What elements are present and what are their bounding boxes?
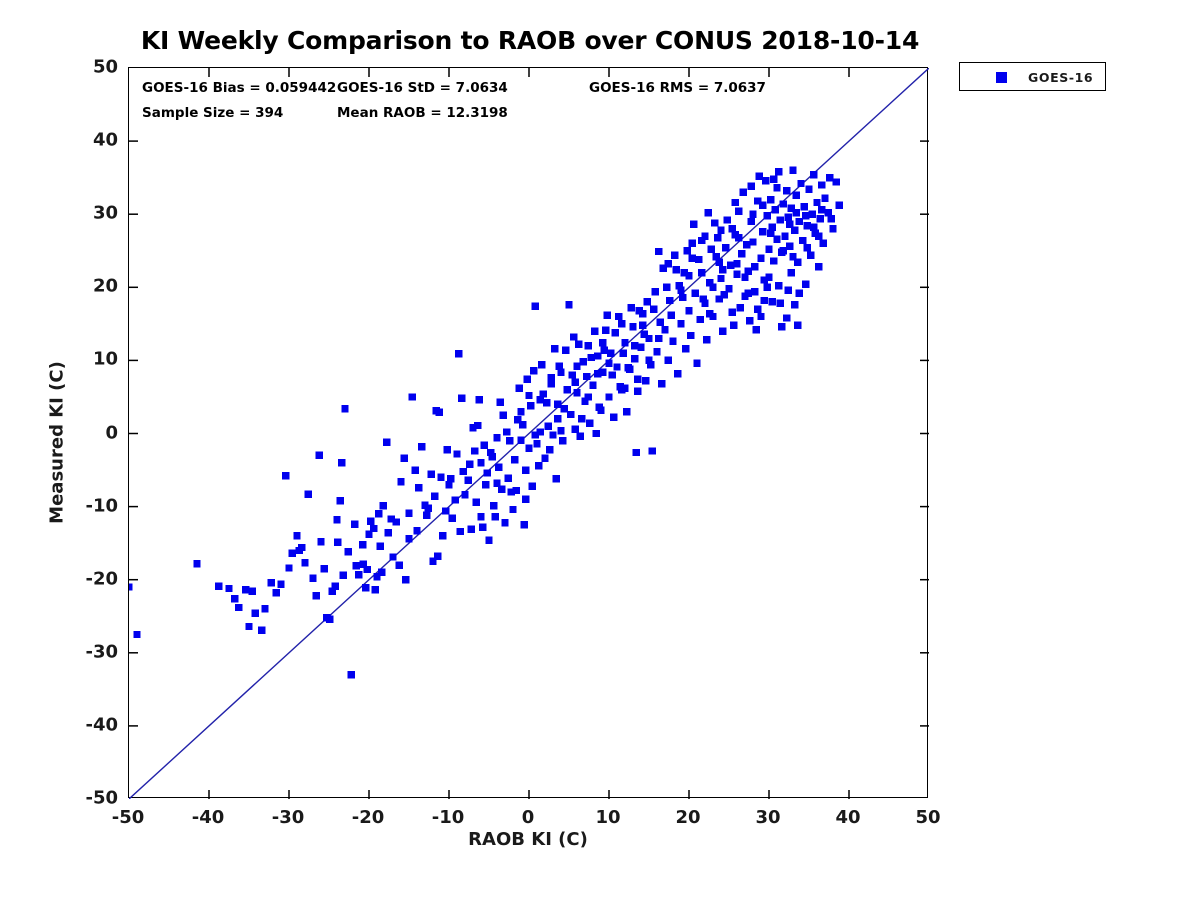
scatter-point [469,424,476,431]
scatter-point [538,361,545,368]
scatter-point [580,358,587,365]
scatter-point [773,235,780,242]
scatter-point [631,355,638,362]
scatter-point [333,516,340,523]
scatter-point [665,260,672,267]
scatter-point [529,482,536,489]
scatter-point [732,199,739,206]
scatter-point [402,576,409,583]
scatter-point [791,301,798,308]
scatter-point [578,415,585,422]
scatter-point [428,471,435,478]
scatter-point [338,459,345,466]
scatter-point [298,544,305,551]
scatter-point [682,345,689,352]
scatter-point [465,477,472,484]
scatter-point [695,256,702,263]
stat-bias: GOES-16 Bias = 0.059442 [142,80,336,96]
scatter-point [258,626,265,633]
scatter-point [378,569,385,576]
scatter-series-goes-16 [129,167,843,679]
scatter-point [772,206,779,213]
stat-rms: GOES-16 RMS = 7.0637 [589,80,766,96]
scatter-point [759,228,766,235]
scatter-point [769,298,776,305]
scatter-point [767,230,774,237]
scatter-point [729,225,736,232]
scatter-point [577,433,584,440]
scatter-point [781,232,788,239]
scatter-point [793,191,800,198]
scatter-point [698,269,705,276]
scatter-point [797,180,804,187]
scatter-point [669,338,676,345]
scatter-point [554,401,561,408]
scatter-point [757,254,764,261]
scatter-point [668,311,675,318]
scatter-point [460,468,467,475]
scatter-point [572,379,579,386]
legend: GOES-16 [959,62,1106,91]
scatter-point [802,281,809,288]
scatter-point [575,341,582,348]
scatter-point [765,246,772,253]
scatter-point [657,319,664,326]
scatter-point [749,211,756,218]
scatter-point [511,456,518,463]
scatter-point [804,244,811,251]
scatter-point [593,430,600,437]
scatter-point [642,377,649,384]
x-tick--10: -10 [432,807,465,828]
scatter-point [677,287,684,294]
scatter-point [599,339,606,346]
scatter-point [431,493,438,500]
scatter-point [549,431,556,438]
scatter-point [765,273,772,280]
scatter-point [756,172,763,179]
scatter-point [780,200,787,207]
stat-sample_size: Sample Size = 394 [142,105,283,121]
scatter-point [631,342,638,349]
scatter-point [836,202,843,209]
scatter-point [242,586,249,593]
scatter-point [711,219,718,226]
scatter-point [666,297,673,304]
scatter-point [653,348,660,355]
scatter-point [305,490,312,497]
scatter-point [719,327,726,334]
scatter-point [794,322,801,329]
scatter-point [477,459,484,466]
scatter-point [573,389,580,396]
scatter-point [261,605,268,612]
stat-mean_raob: Mean RAOB = 12.3198 [337,105,508,121]
scatter-point [468,526,475,533]
scatter-point [690,221,697,228]
scatter-point [348,671,355,678]
scatter-point [762,177,769,184]
scatter-point [353,562,360,569]
scatter-point [447,475,454,482]
scatter-point [355,571,362,578]
scatter-point [636,307,643,314]
scatter-point [780,247,787,254]
scatter-point [681,269,688,276]
scatter-point [375,510,382,517]
scatter-point [129,583,133,590]
x-axis-title: RAOB KI (C) [128,829,928,850]
scatter-point [457,528,464,535]
scatter-point [770,257,777,264]
scatter-point [570,333,577,340]
scatter-point [749,238,756,245]
scatter-point [810,224,817,231]
scatter-point [745,289,752,296]
scatter-point [535,462,542,469]
scatter-point [551,345,558,352]
scatter-point [309,575,316,582]
scatter-point [693,360,700,367]
scatter-point [412,466,419,473]
scatter-point [665,357,672,364]
scatter-point [785,287,792,294]
chart-figure: KI Weekly Comparison to RAOB over CONUS … [0,0,1200,900]
y-axis-title: Measured KI (C) [47,343,68,543]
scatter-point [716,259,723,266]
scatter-point [235,604,242,611]
scatter-point [777,300,784,307]
scatter-point [519,421,526,428]
scatter-point [546,446,553,453]
x-tick--30: -30 [272,807,305,828]
scatter-point [564,386,571,393]
scatter-point [316,452,323,459]
scatter-point [727,262,734,269]
scatter-point [818,206,825,213]
scatter-point [703,336,710,343]
scatter-point [425,504,432,511]
scatter-point [572,425,579,432]
scatter-point [588,354,595,361]
scatter-point [471,447,478,454]
scatter-point [761,297,768,304]
scatter-point [793,209,800,216]
scatter-point [521,521,528,528]
scatter-point [481,441,488,448]
scatter-point [609,371,616,378]
scatter-point [525,444,532,451]
scatter-point [708,246,715,253]
scatter-canvas [129,68,929,799]
scatter-point [789,167,796,174]
scatter-point [685,307,692,314]
scatter-point [612,329,619,336]
scatter-point [372,586,379,593]
scatter-point [493,434,500,441]
scatter-point [724,216,731,223]
scatter-point [522,466,529,473]
scatter-point [778,323,785,330]
scatter-point [436,409,443,416]
scatter-point [277,580,284,587]
scatter-point [833,178,840,185]
scatter-point [351,520,358,527]
scatter-point [489,453,496,460]
scatter-point [719,266,726,273]
scatter-point [697,316,704,323]
scatter-point [671,251,678,258]
x-tick--40: -40 [192,807,225,828]
scatter-point [783,314,790,321]
scatter-point [506,437,513,444]
scatter-point [610,414,617,421]
scatter-point [444,446,451,453]
scatter-point [567,411,574,418]
x-tick--50: -50 [112,807,145,828]
scatter-point [801,203,808,210]
scatter-point [473,499,480,506]
scatter-point [735,234,742,241]
scatter-point [802,212,809,219]
scatter-point [783,187,790,194]
scatter-point [633,449,640,456]
scatter-point [362,584,369,591]
scatter-point [649,447,656,454]
scatter-point [396,561,403,568]
scatter-point [332,583,339,590]
scatter-point [639,322,646,329]
scatter-point [700,295,707,302]
scatter-point [594,352,601,359]
scatter-point [620,349,627,356]
scatter-point [770,175,777,182]
scatter-point [273,589,280,596]
x-tick-40: 40 [835,807,860,828]
scatter-point [215,583,222,590]
scatter-point [249,588,256,595]
scatter-point [621,339,628,346]
scatter-point [522,496,529,503]
scatter-point [455,350,462,357]
scatter-point [629,323,636,330]
scatter-point [409,393,416,400]
scatter-point [524,376,531,383]
scatter-point [829,225,836,232]
scatter-point [585,342,592,349]
scatter-point [492,513,499,520]
scatter-point [537,396,544,403]
scatter-point [775,168,782,175]
scatter-point [751,263,758,270]
scatter-point [602,327,609,334]
scatter-point [365,531,372,538]
scatter-point [650,306,657,313]
y-tick--20: -20 [50,568,118,589]
scatter-point [645,357,652,364]
scatter-point [826,174,833,181]
scatter-point [764,284,771,291]
scatter-point [500,412,507,419]
scatter-point [740,189,747,196]
chart-title: KI Weekly Comparison to RAOB over CONUS … [0,26,1060,55]
scatter-point [509,506,516,513]
scatter-point [345,548,352,555]
scatter-point [748,183,755,190]
scatter-point [799,237,806,244]
scatter-point [743,241,750,248]
scatter-point [815,263,822,270]
scatter-point [748,218,755,225]
scatter-point [709,284,716,291]
x-tick-50: 50 [915,807,940,828]
scatter-point [625,364,632,371]
scatter-point [817,215,824,222]
scatter-point [810,171,817,178]
scatter-point [340,572,347,579]
scatter-point [231,595,238,602]
scatter-point [418,443,425,450]
scatter-point [737,304,744,311]
scatter-point [434,553,441,560]
scatter-point [751,288,758,295]
scatter-point [596,403,603,410]
scatter-point [687,332,694,339]
scatter-point [741,273,748,280]
scatter-point [684,247,691,254]
scatter-point [589,382,596,389]
scatter-point [757,313,764,320]
scatter-point [615,313,622,320]
scatter-point [313,592,320,599]
y-tick-40: 40 [50,130,118,151]
scatter-point [729,308,736,315]
scatter-point [607,349,614,356]
scatter-point [321,565,328,572]
scatter-point [545,422,552,429]
scatter-point [301,559,308,566]
scatter-point [689,254,696,261]
scatter-point [807,251,814,258]
scatter-point [585,393,592,400]
scatter-point [738,250,745,257]
scatter-point [285,564,292,571]
scatter-point [449,515,456,522]
scatter-point [317,538,324,545]
scatter-point [601,346,608,353]
scatter-point [493,480,500,487]
scatter-point [485,537,492,544]
scatter-point [679,294,686,301]
scatter-point [618,320,625,327]
y-tick-20: 20 [50,276,118,297]
scatter-point [476,396,483,403]
scatter-point [533,440,540,447]
scatter-point [516,384,523,391]
scatter-point [805,186,812,193]
scatter-point [553,475,560,482]
scatter-point [559,437,566,444]
scatter-point [548,380,555,387]
scatter-point [405,535,412,542]
scatter-point [484,469,491,476]
scatter-point [764,212,771,219]
scatter-point [634,387,641,394]
scatter-point [692,289,699,296]
scatter-point [586,420,593,427]
scatter-point [439,532,446,539]
scatter-point [658,380,665,387]
scatter-point [804,222,811,229]
scatter-point [413,527,420,534]
scatter-point [389,553,396,560]
scatter-point [628,304,635,311]
scatter-point [813,199,820,206]
scatter-point [717,275,724,282]
scatter-point [605,360,612,367]
scatter-point [621,384,628,391]
scatter-point [490,502,497,509]
scatter-point [821,194,828,201]
scatter-point [252,610,259,617]
scatter-point [543,399,550,406]
scatter-point [730,322,737,329]
scatter-point [735,208,742,215]
scatter-point [562,346,569,353]
scatter-point [815,232,822,239]
scatter-point [452,496,459,503]
scatter-point [561,405,568,412]
y-tick-30: 30 [50,203,118,224]
scatter-point [677,320,684,327]
stat-std: GOES-16 StD = 7.0634 [337,80,508,96]
scatter-point [503,428,510,435]
scatter-point [796,289,803,296]
x-tick-20: 20 [675,807,700,828]
scatter-point [517,436,524,443]
scatter-point [820,240,827,247]
scatter-point [773,184,780,191]
scatter-point [722,244,729,251]
scatter-point [788,269,795,276]
scatter-point [604,311,611,318]
scatter-point [818,181,825,188]
scatter-point [423,512,430,519]
scatter-point [661,326,668,333]
scatter-point [513,487,520,494]
scatter-point [415,484,422,491]
scatter-point [377,542,384,549]
scatter-point [461,491,468,498]
scatter-point [785,213,792,220]
scatter-point [268,579,275,586]
scatter-point [721,291,728,298]
scatter-point [573,363,580,370]
scatter-point [245,623,252,630]
y-tick-50: 50 [50,57,118,78]
scatter-point [532,303,539,310]
scatter-point [786,221,793,228]
x-tick-0: 0 [522,807,535,828]
scatter-point [367,518,374,525]
scatter-point [479,523,486,530]
scatter-point [705,209,712,216]
scatter-point [746,317,753,324]
scatter-point [565,301,572,308]
scatter-point [380,502,387,509]
scatter-point [554,415,561,422]
scatter-point [557,368,564,375]
